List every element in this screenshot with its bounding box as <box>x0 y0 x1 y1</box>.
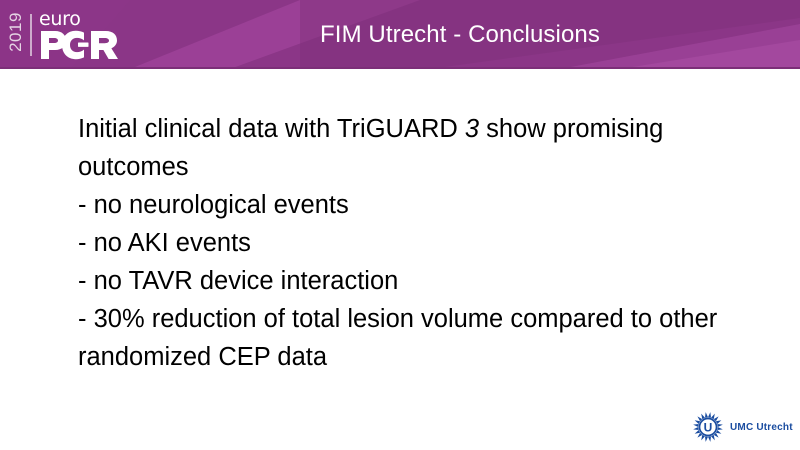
body-text-run: - no TAVR device interaction <box>78 267 398 295</box>
europcr-logo-divider <box>30 14 32 56</box>
europcr-logo-year-text: 2019 <box>6 6 26 58</box>
pcr-wordmark-icon <box>39 30 125 60</box>
europcr-logo-euro-text: euro <box>39 10 125 29</box>
body-emphasis: 3 <box>465 115 479 143</box>
europcr-logo: 2019 euro <box>0 0 130 69</box>
slide-header: 2019 euro <box>0 0 800 69</box>
body-text-run: Initial clinical data with TriGUARD <box>78 115 465 143</box>
body-line: - 30% reduction of total lesion volume c… <box>78 300 778 376</box>
umc-monogram: U <box>704 421 713 435</box>
europcr-logo-pcr-mark <box>39 30 125 60</box>
body-line: - no neurological events <box>78 186 778 224</box>
body-text-run: - 30% reduction of total lesion volume c… <box>78 305 717 371</box>
slide-title: FIM Utrecht - Conclusions <box>150 0 770 69</box>
europcr-logo-wordmark: euro <box>39 10 125 60</box>
body-line: - no TAVR device interaction <box>78 262 778 300</box>
umc-sunburst-icon: U <box>692 411 724 443</box>
slide: 2019 euro <box>0 0 800 450</box>
body-text-run: - no AKI events <box>78 229 251 257</box>
body-text-run: - no neurological events <box>78 191 349 219</box>
europcr-logo-year: 2019 <box>0 0 30 69</box>
umc-utrecht-label: UMC Utrecht <box>730 422 793 433</box>
umc-utrecht-logo: U UMC Utrecht <box>692 410 792 444</box>
body-line: - no AKI events <box>78 224 778 262</box>
slide-body: Initial clinical data with TriGUARD 3 sh… <box>78 110 778 376</box>
body-line: Initial clinical data with TriGUARD 3 sh… <box>78 110 778 186</box>
